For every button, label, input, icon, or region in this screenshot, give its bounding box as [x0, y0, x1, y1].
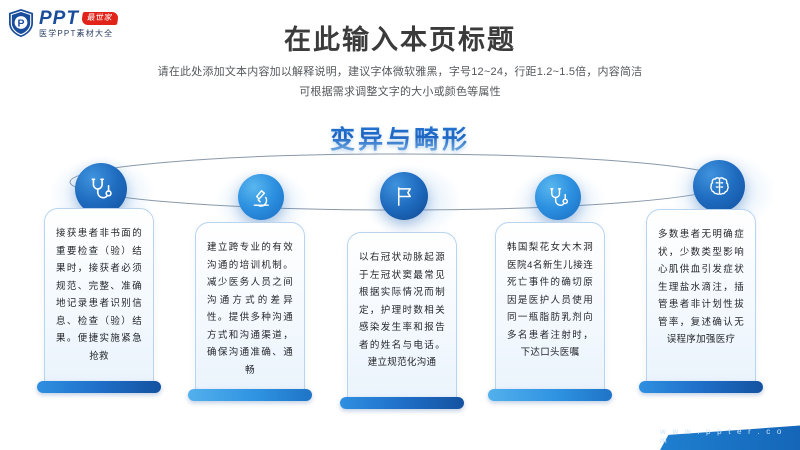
info-card-3-text: 以右冠状动脉起源于左冠状窦最常见根据实际情况而制定，护理时数相关感染发生率和报告…: [359, 249, 445, 372]
info-card-3-body: 以右冠状动脉起源于左冠状窦最常见根据实际情况而制定，护理时数相关感染发生率和报告…: [347, 232, 457, 402]
page-subtitle: 请在此处添加文本内容加以解释说明，建议字体微软雅黑，字号12~24，行距1.2~…: [0, 62, 800, 103]
page-title: 在此输入本页标题: [0, 18, 800, 57]
info-card-4-base: [488, 389, 612, 401]
info-card-1-base: [37, 381, 161, 393]
info-card-4: 韩国梨花女大木洞医院4名新生儿接连死亡事件的确切原因是医护人员使用同一瓶脂肪乳剂…: [495, 222, 605, 394]
info-card-2: 建立跨专业的有效沟通的培训机制。减少医务人员之间沟通方式的差异性。提供多种沟通方…: [195, 222, 305, 394]
node-icon-3-flag[interactable]: [380, 172, 428, 220]
info-card-2-body: 建立跨专业的有效沟通的培训机制。减少医务人员之间沟通方式的差异性。提供多种沟通方…: [195, 222, 305, 394]
info-card-2-text: 建立跨专业的有效沟通的培训机制。减少医务人员之间沟通方式的差异性。提供多种沟通方…: [207, 239, 293, 380]
brain-icon: [707, 174, 732, 199]
node-icon-2-microscope[interactable]: [238, 174, 284, 220]
info-card-5-text: 多数患者无明确症状，少数类型影响心肌供血引发症状生理盐水滴注，插管患者非计划性拔…: [658, 226, 744, 349]
info-card-5-base: [639, 381, 763, 393]
info-card-3-base: [340, 397, 464, 409]
info-card-2-base: [188, 389, 312, 401]
info-card-4-text: 韩国梨花女大木洞医院4名新生儿接连死亡事件的确切原因是医护人员使用同一瓶脂肪乳剂…: [507, 239, 593, 362]
info-card-1-text: 接获患者非书面的重要检查（验）结果时，接获者必须规范、完整、准确地记录患者识别信…: [56, 225, 142, 366]
info-card-4-body: 韩国梨花女大木洞医院4名新生儿接连死亡事件的确切原因是医护人员使用同一瓶脂肪乳剂…: [495, 222, 605, 394]
info-card-5: 多数患者无明确症状，少数类型影响心肌供血引发症状生理盐水滴注，插管患者非计划性拔…: [646, 209, 756, 386]
info-card-1: 接获患者非书面的重要检查（验）结果时，接获者必须规范、完整、准确地记录患者识别信…: [44, 208, 154, 386]
stethoscope-icon: [547, 186, 570, 209]
watermark: w w w . p p t e r . c o m: [660, 424, 800, 450]
info-card-1-body: 接获患者非书面的重要检查（验）结果时，接获者必须规范、完整、准确地记录患者识别信…: [44, 208, 154, 386]
page-subtitle-line-1: 请在此处添加文本内容加以解释说明，建议字体微软雅黑，字号12~24，行距1.2~…: [0, 62, 800, 82]
flag-icon: [393, 185, 416, 208]
microscope-icon: [250, 186, 273, 209]
node-icon-4-stethoscope[interactable]: [535, 174, 581, 220]
node-icon-5-brain[interactable]: [693, 160, 745, 212]
info-card-3: 以右冠状动脉起源于左冠状窦最常见根据实际情况而制定，护理时数相关感染发生率和报告…: [347, 232, 457, 402]
info-card-5-body: 多数患者无明确症状，少数类型影响心肌供血引发症状生理盐水滴注，插管患者非计划性拔…: [646, 209, 756, 386]
watermark-text: w w w . p p t e r . c o m: [660, 427, 792, 445]
stethoscope-icon: [88, 176, 114, 202]
page-subtitle-line-2: 可根据需求调整文字的大小或颜色等属性: [0, 82, 800, 102]
